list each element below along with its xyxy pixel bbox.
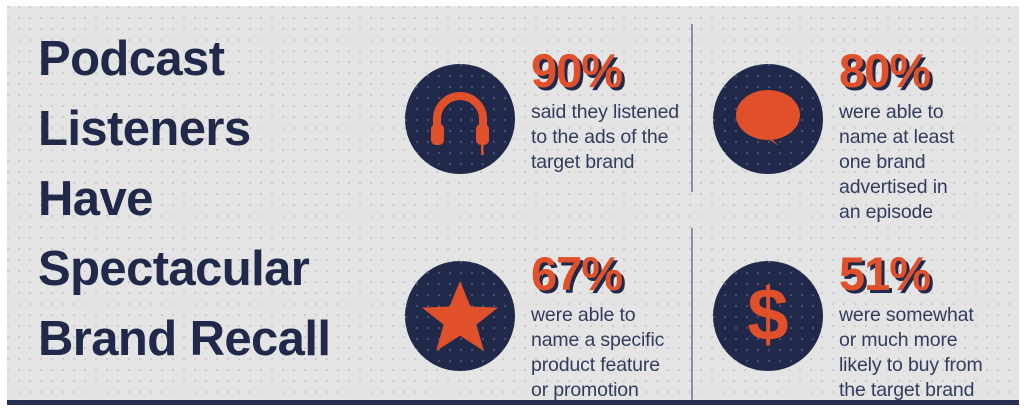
stat-text-name-one-brand: 80% were able to name at least one brand… (839, 48, 954, 225)
desc-line: an episode (839, 200, 954, 225)
stat-description: were somewhat or much more likely to buy… (839, 303, 983, 403)
desc-line: one brand (839, 150, 954, 175)
page-title: Podcast Listeners Have Spectacular Brand… (38, 24, 408, 374)
stat-block-likely-to-buy: $ 51% were somewhat or much more likely … (713, 251, 1019, 403)
desc-line: name at least (839, 125, 954, 150)
stat-text-name-product-feature: 67% were able to name a specific product… (531, 251, 664, 403)
stat-percent: 90% (531, 48, 679, 94)
stat-block-listened-to-ads: 90% said they listened to the ads of the… (405, 48, 691, 175)
desc-line: target brand (531, 150, 679, 175)
stat-block-name-product-feature: 67% were able to name a specific product… (405, 251, 691, 403)
stat-description: were able to name at least one brand adv… (839, 100, 954, 225)
desc-line: or much more (839, 328, 983, 353)
desc-line: were able to (531, 303, 664, 328)
desc-line: advertised in (839, 175, 954, 200)
desc-line: were somewhat (839, 303, 983, 328)
headline-line-5: Brand Recall (38, 304, 408, 374)
infographic-canvas: Podcast Listeners Have Spectacular Brand… (7, 6, 1019, 405)
dollar-sign-icon: $ (713, 261, 823, 371)
headline-line-1: Podcast (38, 24, 408, 94)
headphones-icon (405, 64, 515, 174)
desc-line: were able to (839, 100, 954, 125)
speech-bubble-icon (713, 64, 823, 174)
desc-line: product feature (531, 353, 664, 378)
desc-line: likely to buy from (839, 353, 983, 378)
stat-percent: 51% (839, 251, 983, 297)
stat-percent: 67% (531, 251, 664, 297)
headline-line-3: Have (38, 164, 408, 234)
stat-block-name-one-brand: 80% were able to name at least one brand… (713, 48, 1019, 225)
bottom-accent-bar (7, 400, 1019, 405)
desc-line: said they listened (531, 100, 679, 125)
headline-line-4: Spectacular (38, 234, 408, 304)
desc-line: to the ads of the (531, 125, 679, 150)
desc-line: name a specific (531, 328, 664, 353)
headline-line-2: Listeners (38, 94, 408, 164)
stat-description: said they listened to the ads of the tar… (531, 100, 679, 175)
stat-text-listened-to-ads: 90% said they listened to the ads of the… (531, 48, 679, 175)
stat-description: were able to name a specific product fea… (531, 303, 664, 403)
stat-percent: 80% (839, 48, 954, 94)
stat-text-likely-to-buy: 51% were somewhat or much more likely to… (839, 251, 983, 403)
divider-vertical-top (691, 24, 693, 192)
infographic-root: Podcast Listeners Have Spectacular Brand… (0, 0, 1024, 412)
star-icon (405, 261, 515, 371)
divider-vertical-bottom (691, 228, 693, 400)
svg-text:$: $ (747, 278, 788, 354)
